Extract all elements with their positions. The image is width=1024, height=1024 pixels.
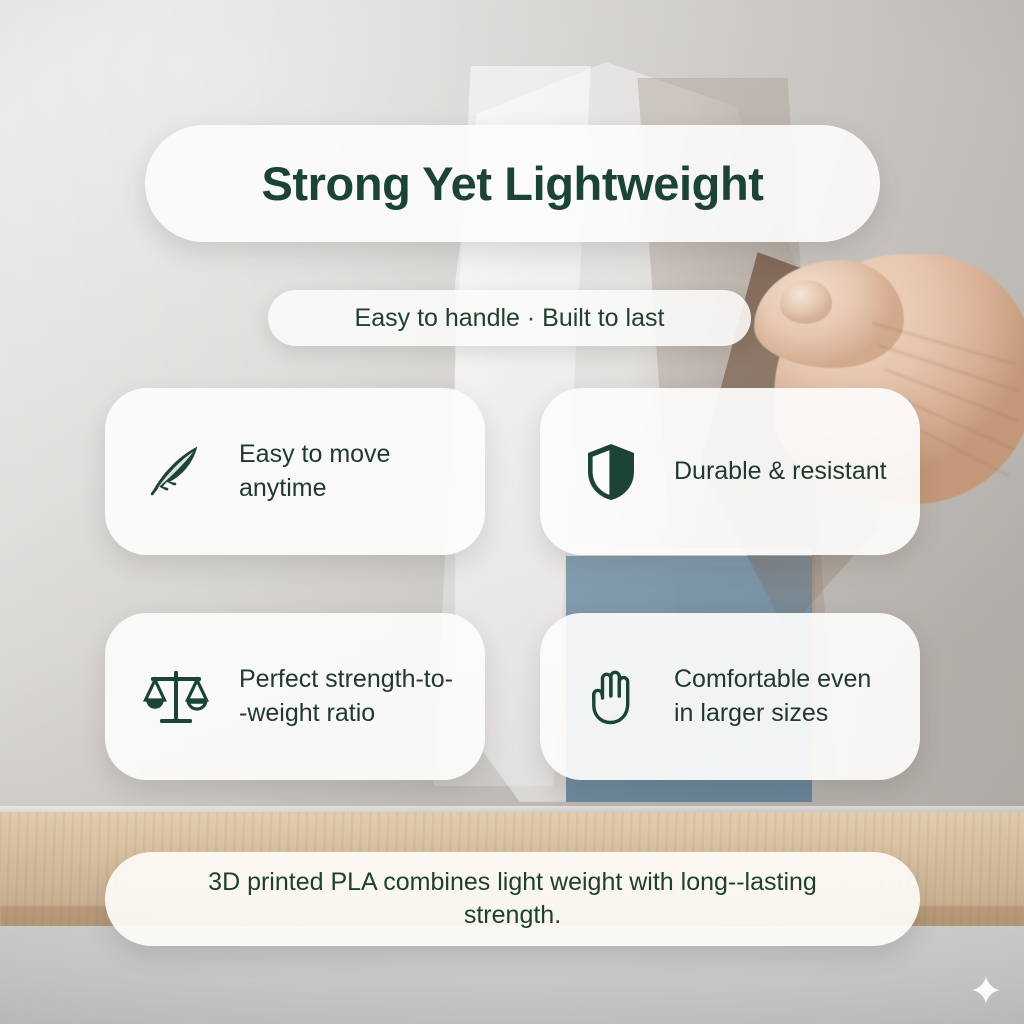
shield-icon	[574, 435, 648, 509]
scales-icon	[139, 660, 213, 734]
footer-card: 3D printed PLA combines light weight wit…	[105, 852, 920, 946]
feature-card-label: Perfect strength-to--weight ratio	[239, 663, 459, 730]
feather-icon	[139, 435, 213, 509]
sparkle-icon	[972, 976, 1000, 1004]
subtitle-card: Easy to handle · Built to last	[268, 290, 751, 346]
page-subtitle: Easy to handle · Built to last	[355, 304, 665, 333]
feature-card-label: Durable & resistant	[674, 455, 887, 489]
footer-text: 3D printed PLA combines light weight wit…	[163, 866, 863, 933]
content-overlay: Strong Yet Lightweight Easy to handle · …	[0, 0, 1024, 1024]
poster-canvas: Strong Yet Lightweight Easy to handle · …	[0, 0, 1024, 1024]
feature-card-label: Comfortable even in larger sizes	[674, 663, 894, 730]
feature-card-label: Easy to move anytime	[239, 438, 459, 505]
hand-icon	[574, 660, 648, 734]
title-card: Strong Yet Lightweight	[145, 125, 880, 242]
feature-card-durable[interactable]: Durable & resistant	[540, 388, 920, 555]
feature-card-easy-to-move[interactable]: Easy to move anytime	[105, 388, 485, 555]
feature-card-grid: Easy to move anytime Durable & resistant	[105, 388, 920, 780]
page-title: Strong Yet Lightweight	[261, 156, 763, 211]
feature-card-strength-to-weight[interactable]: Perfect strength-to--weight ratio	[105, 613, 485, 780]
feature-card-comfortable[interactable]: Comfortable even in larger sizes	[540, 613, 920, 780]
